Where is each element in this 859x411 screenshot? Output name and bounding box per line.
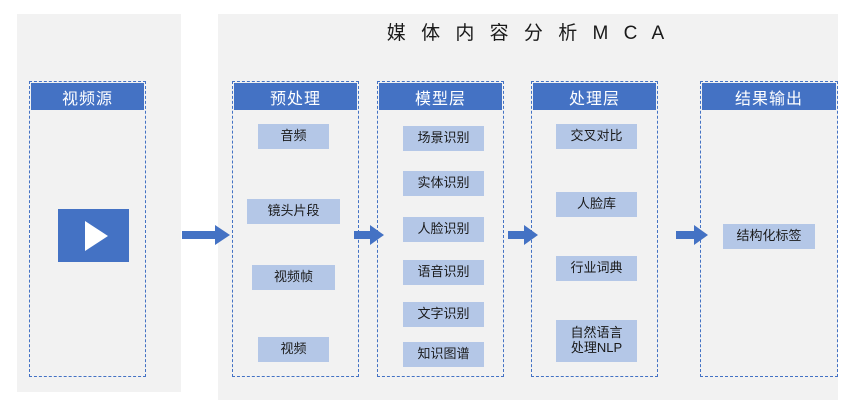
column-header-result-output: 结果输出: [702, 83, 836, 110]
item-box[interactable]: 结构化标签: [723, 224, 815, 249]
item-box[interactable]: 人脸库: [556, 192, 637, 217]
item-box[interactable]: 自然语言 处理NLP: [556, 320, 637, 362]
diagram-canvas: 媒 体 内 容 分 析 M C A 视频源 预处理 音频 镜头片段 视频帧 视频…: [0, 0, 859, 411]
item-box[interactable]: 人脸识别: [403, 217, 484, 242]
item-box[interactable]: 文字识别: [403, 302, 484, 327]
column-header-model-layer: 模型层: [379, 83, 502, 110]
item-box[interactable]: 交叉对比: [556, 124, 637, 149]
column-header-preprocessing: 预处理: [234, 83, 357, 110]
column-header-processing-layer: 处理层: [533, 83, 656, 110]
item-box[interactable]: 实体识别: [403, 171, 484, 196]
arrow-right-icon: [354, 224, 384, 246]
item-box[interactable]: 视频帧: [252, 265, 335, 290]
item-box[interactable]: 行业词典: [556, 256, 637, 281]
item-box[interactable]: 音频: [258, 124, 329, 149]
arrow-right-icon: [182, 224, 230, 246]
play-icon[interactable]: [58, 209, 129, 262]
column-header-video-source: 视频源: [31, 83, 144, 110]
item-box[interactable]: 知识图谱: [403, 342, 484, 367]
item-box[interactable]: 镜头片段: [247, 199, 340, 224]
item-box[interactable]: 视频: [258, 337, 329, 362]
page-title: 媒 体 内 容 分 析 M C A: [218, 18, 838, 45]
arrow-right-icon: [508, 224, 538, 246]
arrow-right-icon: [676, 224, 708, 246]
item-box[interactable]: 语音识别: [403, 260, 484, 285]
item-box[interactable]: 场景识别: [403, 126, 484, 151]
play-triangle: [85, 221, 108, 251]
